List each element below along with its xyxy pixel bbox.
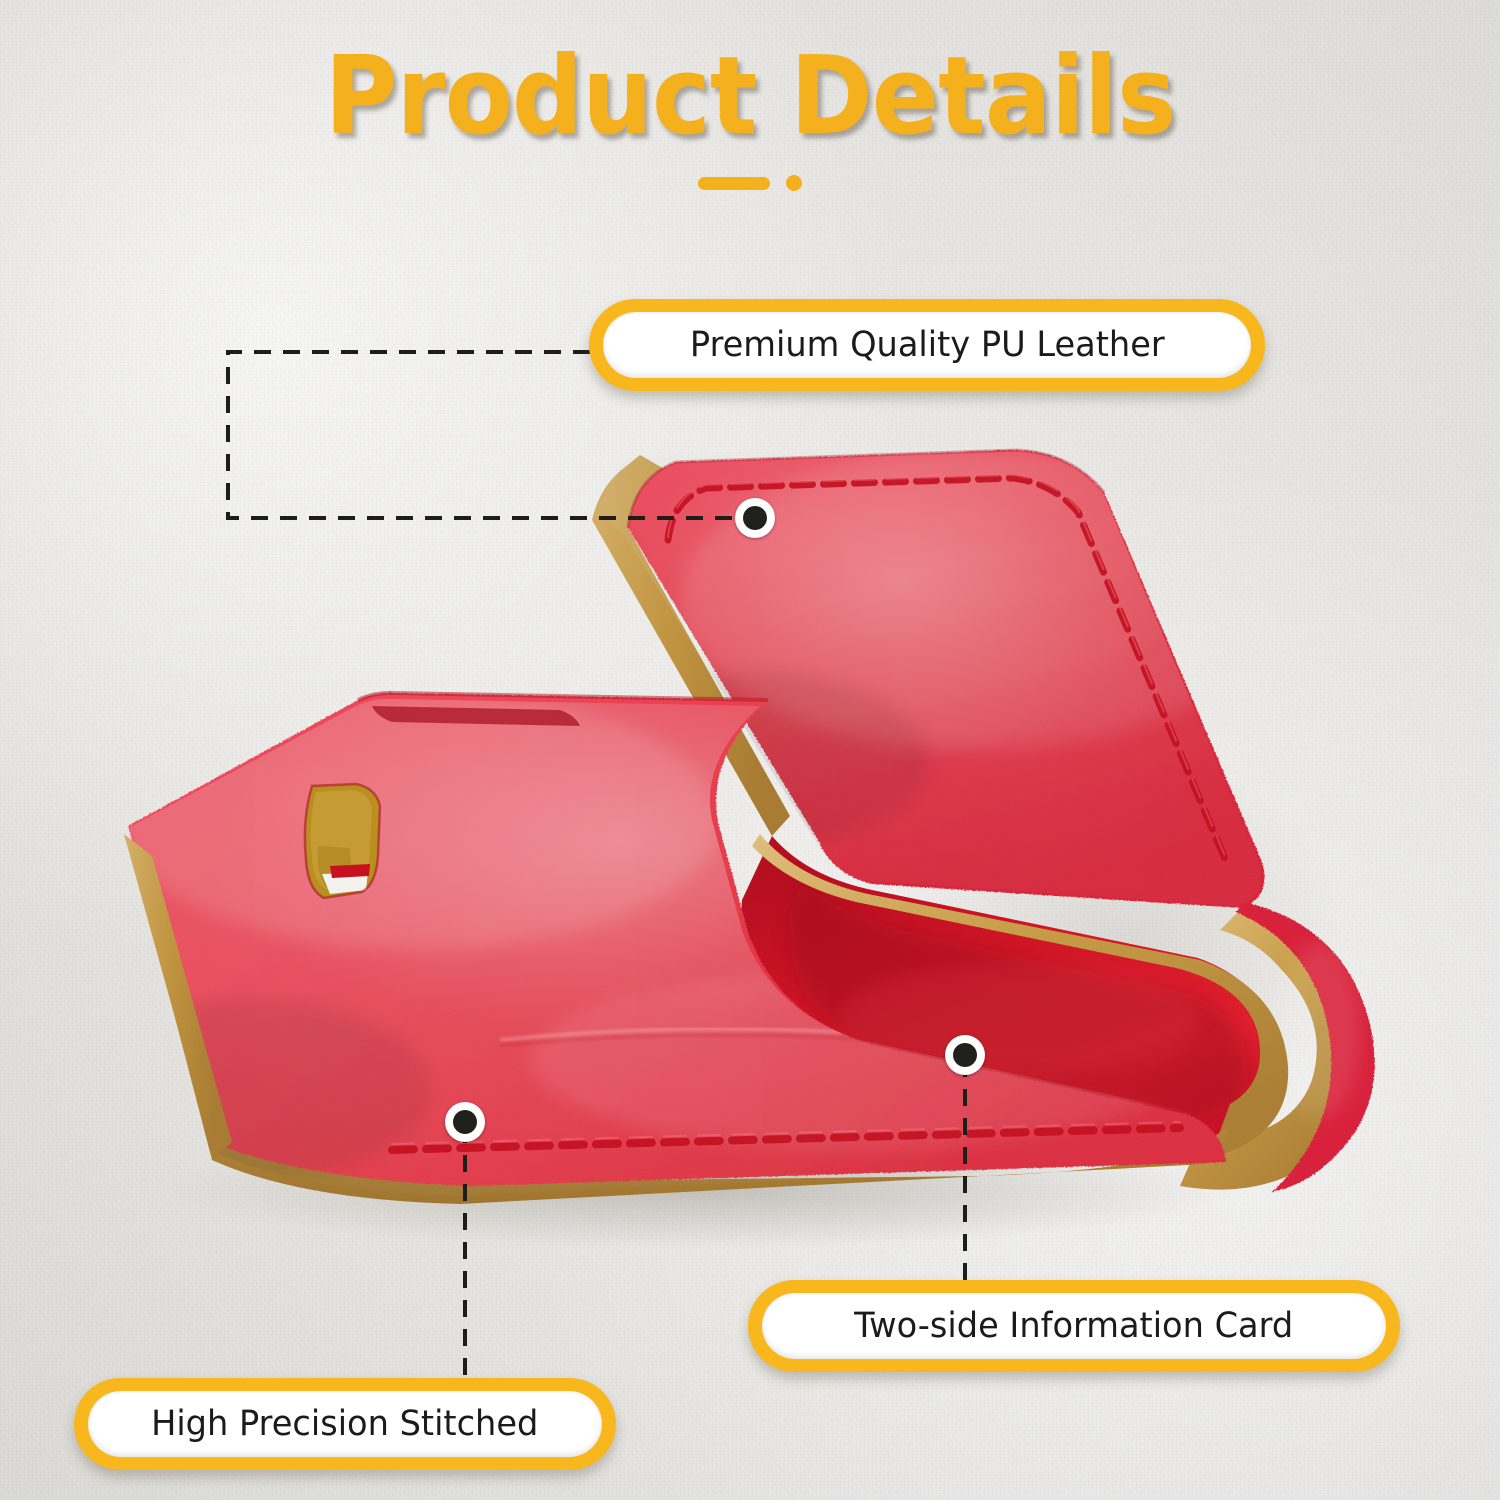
divider-bar-icon [698, 177, 770, 190]
marker-dot-icon [453, 1110, 477, 1134]
marker-dot-icon [953, 1043, 977, 1067]
callout-two-side-information-card[interactable]: Two-side Information Card [748, 1280, 1400, 1372]
page-title: Product Details [60, 34, 1440, 159]
marker-dot-icon [743, 506, 767, 530]
callout-premium-quality-pu-leather[interactable]: Premium Quality PU Leather [589, 299, 1265, 391]
callout-marker-high-precision[interactable] [445, 1102, 485, 1142]
title-divider [0, 172, 1500, 194]
callout-marker-premium-quality[interactable] [735, 498, 775, 538]
callout-label: High Precision Stitched [151, 1404, 538, 1444]
divider-dot-icon [786, 175, 802, 191]
card-slot-cutout [305, 784, 380, 898]
callout-inner: Premium Quality PU Leather [603, 312, 1251, 378]
callout-label: Two-side Information Card [854, 1306, 1293, 1346]
callout-label: Premium Quality PU Leather [690, 325, 1165, 365]
callout-marker-two-side-card[interactable] [945, 1035, 985, 1075]
callout-inner: Two-side Information Card [762, 1293, 1386, 1359]
callout-high-precision-stitched[interactable]: High Precision Stitched [74, 1378, 616, 1470]
callout-inner: High Precision Stitched [88, 1391, 602, 1457]
product-image [0, 0, 1500, 1500]
